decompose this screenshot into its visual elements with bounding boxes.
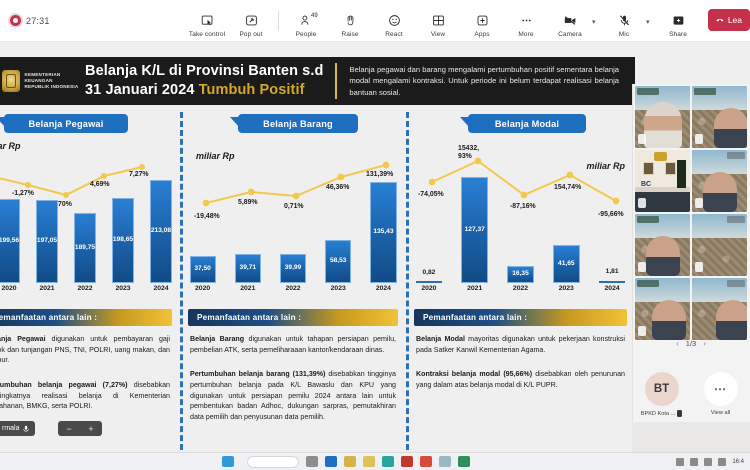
chart-modal: miliar Rp -74,05% 15432, 93% -87,16% 154…: [406, 137, 635, 299]
paragraph-modal-2-bold: Kontraksi belanja modal (95,66%): [416, 370, 532, 378]
paragraph-barang-1-bold: Belanja Barang: [190, 335, 244, 343]
slide-summary-note: Belanja pegawai dan barang mengalami per…: [349, 64, 635, 98]
recording-dot-icon: [10, 15, 21, 26]
paragraph-pegawai-2-bold: Pertumbuhan belanja pegawai (7,27%): [0, 381, 128, 389]
taskbar-icon-teams[interactable]: [439, 456, 451, 467]
mic-off-icon: [618, 12, 631, 29]
take-control-label: Take control: [189, 31, 225, 38]
pop-out-label: Pop out: [239, 31, 262, 38]
bars-modal: 0,82 127,37 16,35 41,65: [406, 165, 635, 283]
windows-taskbar: 16:4: [0, 452, 750, 470]
recording-timer: 27:31: [26, 16, 50, 26]
header-divider: [335, 63, 337, 99]
taskbar-icon-explorer[interactable]: [222, 456, 234, 467]
more-label: More: [518, 31, 533, 38]
presenter-name: rmala: [2, 425, 20, 432]
bar-value-barang-2024: 135,43: [373, 228, 393, 235]
mic-muted-icon: [638, 198, 646, 208]
apps-button[interactable]: Apps: [460, 9, 504, 40]
bar-group-barang-2023: 58,53: [316, 165, 361, 283]
paragraph-modal-1-bold: Belanja Modal: [416, 335, 465, 343]
people-label: People: [296, 31, 317, 38]
bar-modal-2024[interactable]: 1,81: [599, 280, 626, 283]
bar-barang-2022[interactable]: 39,99: [280, 254, 306, 283]
mic-button[interactable]: Mic: [602, 9, 646, 40]
xtick-modal-2022: 2022: [498, 285, 544, 299]
taskbar-icons: [222, 456, 470, 468]
paragraph-modal-2: Kontraksi belanja modal (95,66%) disebab…: [416, 369, 625, 390]
bar-value-pegawai-2022: 189,75: [75, 244, 95, 251]
bar-pegawai-2023[interactable]: 198,65: [112, 198, 134, 283]
zoom-in-button[interactable]: +: [88, 424, 93, 434]
mic-muted-icon: [677, 410, 682, 417]
slide-columns: Belanja Pegawai miliar Rp -1,27% -3,70%: [0, 108, 635, 470]
take-control-icon: [201, 12, 214, 29]
bar-value-modal-2021: 127,37: [465, 226, 485, 233]
paragraph-modal-1: Belanja Modal mayoritas digunakan untuk …: [416, 334, 625, 355]
bar-value-barang-2020: 37,50: [194, 265, 211, 272]
pop-out-button[interactable]: Pop out: [229, 9, 273, 40]
bar-value-modal-2022: 16,35: [512, 270, 529, 277]
rail-pager: ‹ 1/3 ›: [632, 336, 750, 350]
tray-icon-battery[interactable]: [718, 458, 726, 466]
taskbar-icon-pdf[interactable]: [401, 456, 413, 467]
chart-title-barang: Belanja Barang: [238, 114, 358, 133]
tray-icon-chevron[interactable]: [676, 458, 684, 466]
more-icon: [520, 12, 533, 29]
paragraph-pegawai-2: Pertumbuhan belanja pegawai (7,27%) dise…: [0, 380, 170, 412]
presenter-name-badge: rmala: [0, 421, 35, 436]
pop-out-icon: [245, 12, 258, 29]
leave-label: Lea: [728, 15, 742, 25]
react-icon: [388, 12, 401, 29]
raise-hand-icon: [344, 12, 357, 29]
bar-pegawai-2021[interactable]: 197,05: [36, 200, 58, 283]
taskbar-icon-whatsapp[interactable]: [458, 456, 470, 467]
meeting-toolbar: 27:31 Take control Pop out 49 People: [0, 0, 750, 42]
bar-value-barang-2021: 39,71: [240, 264, 257, 271]
bar-barang-2021[interactable]: 39,71: [235, 254, 261, 283]
column-belanja-barang: Belanja Barang miliar Rp -19,48% 5,89% 0…: [180, 108, 406, 470]
taskbar-clock[interactable]: 16:4: [732, 459, 744, 465]
garuda-emblem-icon: [2, 70, 20, 92]
tray-icon-network[interactable]: [690, 458, 698, 466]
paragraph-pegawai-1: Belanja Pegawai digunakan untuk pembayar…: [0, 334, 170, 366]
bar-value-modal-2020: 0,82: [422, 269, 435, 276]
bar-value-barang-2023: 58,53: [330, 257, 347, 264]
view-icon: [432, 12, 445, 29]
video-tile[interactable]: [635, 214, 690, 276]
react-button[interactable]: React: [372, 9, 416, 40]
system-tray: 16:4: [676, 458, 744, 466]
bar-group-barang-2024: 135,43: [361, 165, 406, 283]
slide-header: KEMENTERIAN KEUANGAN REPUBLIK INDONESIA …: [0, 57, 635, 105]
people-button[interactable]: 49 People: [284, 9, 328, 40]
recording-indicator: 27:31: [10, 15, 50, 26]
chart-pegawai: miliar Rp -1,27% -3,70% 4,69% 7,27%: [0, 137, 180, 299]
slide-title-line2: 31 Januari 2024: [85, 82, 195, 98]
ministry-logo: KEMENTERIAN KEUANGAN REPUBLIK INDONESIA: [0, 70, 85, 92]
xtick-barang-2024: 2024: [361, 285, 406, 299]
xtick-modal-2024: 2024: [589, 285, 635, 299]
video-tile[interactable]: [635, 278, 690, 340]
chart-title-pegawai: Belanja Pegawai: [4, 114, 128, 133]
xtick-pegawai-2022: 2022: [66, 285, 104, 299]
apps-icon: [476, 12, 489, 29]
taskbar-icon-taskview[interactable]: [306, 456, 318, 467]
view-all-button[interactable]: ⋯ View all: [693, 372, 749, 417]
zoom-out-button[interactable]: −: [66, 424, 71, 434]
bar-group-barang-2020: 37,50: [180, 165, 225, 283]
bars-barang: 37,50 39,71 39,99 58,53: [180, 165, 406, 283]
next-page-button[interactable]: ›: [703, 339, 706, 348]
participant-name: BPKD Kota ...: [641, 411, 676, 417]
bar-group-modal-2023: 41,65: [543, 165, 589, 283]
video-tile[interactable]: BC: [635, 150, 690, 212]
meeting-stage: KEMENTERIAN KEUANGAN REPUBLIK INDONESIA …: [0, 42, 750, 452]
bar-group-barang-2021: 39,71: [225, 165, 270, 283]
bar-group-barang-2022: 39,99: [270, 165, 315, 283]
taskbar-icon-excel[interactable]: [382, 456, 394, 467]
more-button[interactable]: More: [504, 9, 548, 40]
bar-pegawai-2020[interactable]: 199,56: [0, 199, 20, 283]
take-control-button[interactable]: Take control: [185, 9, 229, 40]
xtick-barang-2021: 2021: [225, 285, 270, 299]
xtick-modal-2021: 2021: [452, 285, 498, 299]
bar-group-pegawai-2023: 198,65: [104, 165, 142, 283]
tray-icon-volume[interactable]: [704, 458, 712, 466]
share-label: Share: [669, 31, 687, 38]
xtick-modal-2020: 2020: [406, 285, 452, 299]
bar-value-pegawai-2024: 213,08: [151, 227, 171, 234]
camera-label: Camera: [558, 31, 582, 38]
page-indicator: 1/3: [686, 339, 696, 348]
raise-label: Raise: [341, 31, 358, 38]
mic-chevron-down-icon[interactable]: ▾: [646, 18, 656, 40]
bar-group-pegawai-2021: 197,05: [28, 165, 66, 283]
avatar: BT: [645, 372, 679, 406]
paragraph-barang-2: Pertumbuhan belanja barang (131,39%) dis…: [190, 369, 396, 422]
unit-label-pegawai: miliar Rp: [0, 141, 21, 151]
slide-title: Belanja K/L di Provinsi Banten s.d 31 Ja…: [85, 62, 323, 99]
paragraph-pegawai-1-bold: Belanja Pegawai: [0, 335, 46, 343]
bar-modal-2022[interactable]: 16,35: [507, 266, 534, 283]
bar-value-modal-2023: 41,65: [558, 260, 575, 267]
bar-barang-2024[interactable]: 135,43: [370, 182, 396, 283]
column-belanja-pegawai: Belanja Pegawai miliar Rp -1,27% -3,70%: [0, 108, 180, 470]
taskbar-search-box[interactable]: [247, 456, 299, 468]
apps-label: Apps: [474, 31, 489, 38]
bar-group-modal-2020: 0,82: [406, 165, 452, 283]
bar-group-modal-2021: 127,37: [452, 165, 498, 283]
paragraph-barang-1: Belanja Barang digunakan untuk tahapan p…: [190, 334, 396, 355]
mic-muted-icon: [695, 134, 703, 144]
video-tile-active-speaker[interactable]: [692, 278, 747, 340]
video-tile[interactable]: [692, 150, 747, 212]
camera-chevron-down-icon[interactable]: ▾: [592, 18, 602, 40]
participant-label: BPKD Kota ...: [641, 410, 683, 417]
xtick-barang-2022: 2022: [270, 285, 315, 299]
xtick-barang-2020: 2020: [180, 285, 225, 299]
bar-barang-2023[interactable]: 58,53: [325, 240, 351, 283]
bar-value-pegawai-2021: 197,05: [37, 237, 57, 244]
bars-pegawai: 199,56 197,05 189,75 198,65: [0, 165, 180, 283]
taskbar-icon-edge[interactable]: [325, 456, 337, 467]
view-button[interactable]: View: [416, 9, 460, 40]
view-all-label: View all: [711, 410, 730, 416]
taskbar-icon-folder[interactable]: [344, 456, 356, 467]
bar-value-pegawai-2023: 198,65: [113, 236, 133, 243]
unit-label-barang: miliar Rp: [196, 151, 235, 161]
leave-call-button[interactable]: Lea: [708, 9, 750, 31]
shared-presentation-slide[interactable]: KEMENTERIAN KEUANGAN REPUBLIK INDONESIA …: [0, 50, 635, 470]
usebar-barang: Pemanfaatan antara lain :: [188, 309, 398, 326]
org-line-1: KEMENTERIAN KEUANGAN: [24, 72, 85, 84]
bar-modal-2023[interactable]: 41,65: [553, 245, 580, 283]
bar-modal-2021[interactable]: 127,37: [461, 177, 488, 283]
view-label: View: [431, 31, 445, 38]
mic-muted-icon: [638, 326, 646, 336]
xtick-pegawai-2024: 2024: [142, 285, 180, 299]
mic-muted-icon: [638, 262, 646, 272]
org-line-2: REPUBLIK INDONESIA: [24, 84, 85, 90]
mic-muted-icon: [638, 134, 646, 144]
bar-group-pegawai-2022: 189,75: [66, 165, 104, 283]
react-label: React: [385, 31, 402, 38]
camera-button[interactable]: Camera: [548, 9, 592, 40]
ellipsis-icon: ⋯: [704, 372, 738, 406]
bar-pegawai-2024[interactable]: 213,08: [150, 180, 172, 283]
taskbar-icon-office[interactable]: [420, 456, 432, 467]
growth-label-modal-2021: 15432, 93%: [458, 145, 479, 160]
bar-group-modal-2024: 1,81: [589, 165, 635, 283]
video-tile[interactable]: [692, 214, 747, 276]
share-screen-icon: [672, 12, 685, 29]
people-count-badge: 49: [311, 13, 318, 19]
xaxis-barang: 2020 2021 2022 2023 2024: [180, 285, 406, 299]
video-tile[interactable]: [692, 86, 747, 148]
xtick-barang-2023: 2023: [316, 285, 361, 299]
bar-group-pegawai-2024: 213,08: [142, 165, 180, 283]
paragraph-barang-2-bold: Pertumbuhan belanja barang (131,39%): [190, 370, 325, 378]
mic-muted-icon: [23, 425, 29, 433]
zoom-controls[interactable]: − +: [58, 421, 102, 436]
share-button[interactable]: Share: [656, 9, 700, 40]
mic-muted-icon: [695, 198, 703, 208]
avatar-row: BT BPKD Kota ... ⋯ View all: [632, 372, 750, 417]
chart-title-modal: Belanja Modal: [468, 114, 586, 133]
bar-value-pegawai-2020: 199,56: [0, 237, 19, 244]
xaxis-pegawai: 2020 2021 2022 2023 2024: [0, 285, 180, 299]
chart-barang: miliar Rp -19,48% 5,89% 0,71% 46,36% 131…: [180, 137, 406, 299]
video-tile-grid: BC: [635, 86, 747, 340]
participant-bt[interactable]: BT BPKD Kota ...: [634, 372, 690, 417]
bar-value-modal-2024: 1,81: [606, 268, 619, 275]
prev-page-button[interactable]: ‹: [676, 339, 679, 348]
mic-label: Mic: [619, 31, 629, 38]
usebar-pegawai: Pemanfaatan antara lain :: [0, 309, 172, 326]
camera-off-icon: [563, 12, 578, 29]
taskbar-icon-notepad[interactable]: [363, 456, 375, 467]
raise-hand-button[interactable]: Raise: [328, 9, 372, 40]
xaxis-modal: 2020 2021 2022 2023 2024: [406, 285, 635, 299]
toolbar-divider: [278, 11, 279, 31]
bar-barang-2020[interactable]: 37,50: [190, 256, 216, 283]
bar-pegawai-2022[interactable]: 189,75: [74, 213, 96, 283]
xtick-pegawai-2023: 2023: [104, 285, 142, 299]
xtick-pegawai-2020: 2020: [0, 285, 28, 299]
hangup-icon: [716, 15, 724, 24]
bar-modal-2020[interactable]: 0,82: [416, 281, 443, 283]
bar-group-modal-2022: 16,35: [498, 165, 544, 283]
video-tile[interactable]: [635, 86, 690, 148]
slide-title-accent: Tumbuh Positif: [199, 82, 305, 98]
usebar-modal: Pemanfaatan antara lain :: [414, 309, 627, 326]
participant-rail: BC ‹: [632, 84, 750, 470]
xtick-modal-2023: 2023: [543, 285, 589, 299]
xtick-pegawai-2021: 2021: [28, 285, 66, 299]
slide-title-line1: Belanja K/L di Provinsi Banten s.d: [85, 62, 323, 81]
bar-value-barang-2022: 39,99: [285, 264, 302, 271]
bar-group-pegawai-2020: 199,56: [0, 165, 28, 283]
column-belanja-modal: Belanja Modal miliar Rp -74,05% 15432, 9…: [406, 108, 635, 470]
mic-muted-icon: [695, 262, 703, 272]
